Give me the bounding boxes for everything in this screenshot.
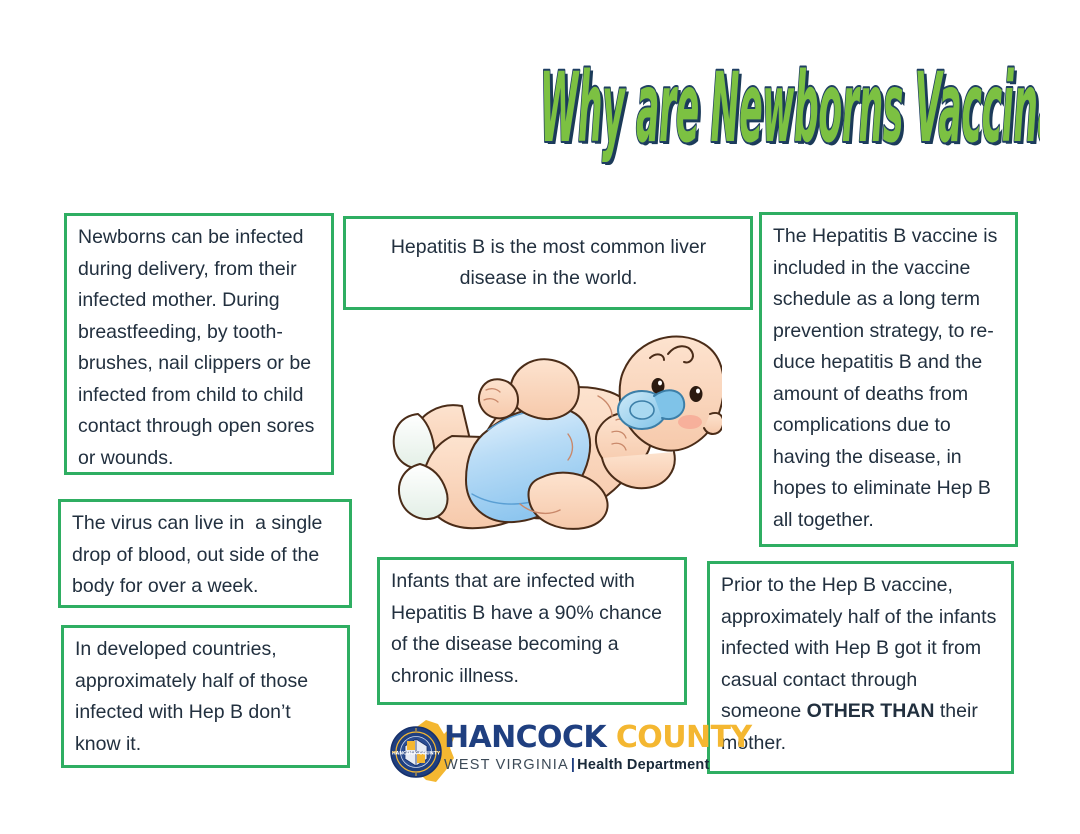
fact-text-developed-countries: In developed countries, approximately ha… [75,634,337,760]
fact-box-newborn-infection: Newborns can be infected during delivery… [64,213,334,475]
fact-box-virus-survival: The virus can live in a single drop of b… [58,499,352,608]
logo-wordmark: HANCOCK COUNTY WEST VIRGINIA|Health Depa… [444,721,686,775]
fact-text-vaccine-schedule: The Hepatitis B vaccine is included in t… [773,221,1005,536]
fact-text-newborn-infection: Newborns can be infected during delivery… [78,222,321,474]
baby-clipart-illustration [392,318,722,568]
logo-state-text: WEST VIRGINIA [444,757,569,773]
baby-clipart-svg [392,318,722,568]
hancock-county-logo: HANCOCK COUNTY HANCOCK COUNTY WEST VIRGI… [386,718,686,786]
logo-subtitle: WEST VIRGINIA|Health Department [444,755,686,775]
fact-box-developed-countries: In developed countries, approximately ha… [61,625,350,768]
fact-box-prior-to-vaccine: Prior to the Hep B vaccine, approximatel… [707,561,1014,774]
page-title-banner: Why are Newborns Vaccinated Against Hepa… [0,48,1080,176]
logo-hancock-text: HANCOCK [444,720,606,755]
fact-box-chronic-illness: Infants that are infected with Hepatitis… [377,557,687,705]
fact-text-virus-survival: The virus can live in a single drop of b… [72,508,339,603]
county-seal-text: HANCOCK COUNTY [392,751,441,757]
fact-text-chronic-illness: Infants that are infected with Hepatitis… [391,566,674,692]
logo-separator: | [569,757,577,773]
logo-department-text: Health Department [577,757,709,773]
fact-text-most-common: Hepatitis B is the most common liver dis… [357,232,740,295]
fact-box-vaccine-schedule: The Hepatitis B vaccine is included in t… [759,212,1018,547]
page-title: Why are Newborns Vaccinated Against Hepa… [540,52,1040,164]
logo-county-text: COUNTY [616,720,752,755]
fact-box-most-common-liver-disease: Hepatitis B is the most common liver dis… [343,216,753,310]
fact-text-prior-emphasis: OTHER THAN [807,700,935,722]
logo-county-name: HANCOCK COUNTY [444,721,686,754]
title-wordart: Why are Newborns Vaccinated Against Hepa… [40,52,1040,172]
fact-text-prior-to-vaccine: Prior to the Hep B vaccine, approximatel… [721,570,1001,759]
